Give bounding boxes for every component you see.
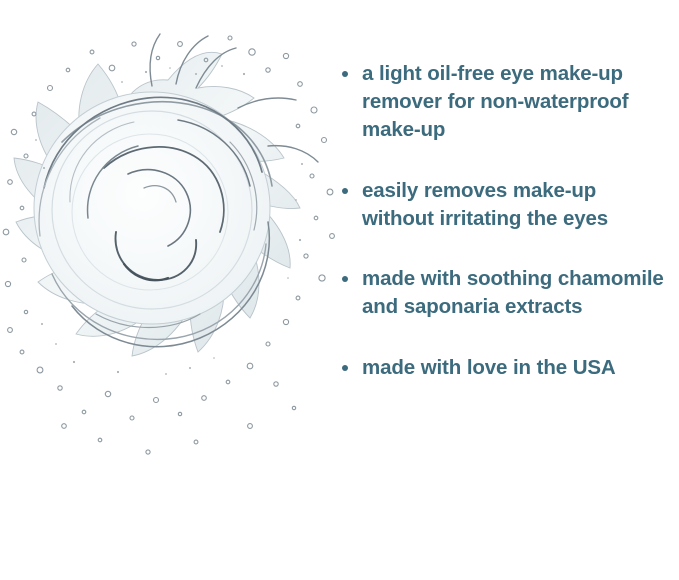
swirl-stroke-14	[178, 120, 250, 186]
droplet	[109, 65, 115, 71]
feature-text: a light oil-free eye make-up remover for…	[362, 60, 672, 144]
water-splash-image	[0, 22, 340, 522]
splash-outer-body	[14, 52, 300, 356]
list-item: a light oil-free eye make-up remover for…	[336, 60, 672, 144]
feature-bullet-list: a light oil-free eye make-up remover for…	[336, 60, 672, 382]
mist-speck	[295, 199, 297, 201]
crown-spike-2	[176, 36, 208, 84]
swirl-stroke-13	[230, 142, 257, 230]
splash-inner-bowl	[34, 92, 270, 324]
splash-swirl-group	[39, 97, 272, 346]
droplet	[82, 410, 86, 414]
product-feature-panel: a light oil-free eye make-up remover for…	[0, 0, 679, 580]
droplet	[283, 53, 288, 58]
droplet	[8, 180, 13, 185]
droplet	[283, 319, 288, 324]
droplet	[274, 382, 278, 386]
droplet	[98, 438, 102, 442]
mist-speck	[301, 163, 303, 165]
crown-spike-5	[268, 146, 318, 162]
mist-speck	[35, 139, 37, 141]
droplet	[24, 154, 28, 158]
droplet	[330, 234, 335, 239]
swirl-stroke-3	[39, 118, 100, 236]
feature-text: made with soothing chamomile and saponar…	[362, 265, 672, 321]
splash-crown-group	[150, 34, 318, 162]
droplet	[202, 396, 207, 401]
mist-speck	[165, 373, 167, 375]
droplet	[249, 49, 255, 55]
mist-speck	[55, 343, 57, 345]
droplet	[22, 258, 26, 262]
droplet	[58, 386, 62, 390]
droplet	[296, 296, 300, 300]
droplet	[310, 174, 314, 178]
droplet	[32, 112, 36, 116]
list-item: easily removes make-up without irritatin…	[336, 177, 672, 233]
swirl-stroke-10	[124, 264, 168, 280]
swirl-stroke-5	[52, 244, 266, 339]
swirl-stroke-6	[104, 147, 224, 232]
swirl-stroke-4	[72, 222, 269, 347]
swirl-stroke-15	[96, 314, 200, 328]
droplet	[204, 58, 208, 62]
list-item: made with love in the USA	[336, 354, 672, 382]
swirl-stroke-2	[44, 97, 262, 188]
droplet	[228, 36, 232, 40]
droplet	[8, 328, 13, 333]
bullet-point-icon	[342, 188, 348, 194]
swirl-stroke-8	[128, 170, 190, 246]
mist-speck	[299, 239, 301, 241]
droplet	[327, 189, 333, 195]
droplet	[311, 107, 317, 113]
droplet	[226, 380, 230, 384]
droplet	[266, 342, 270, 346]
droplet	[248, 424, 253, 429]
feature-text: made with love in the USA	[362, 354, 672, 382]
crown-spike-4	[238, 98, 296, 108]
droplet	[105, 391, 110, 396]
mist-speck	[221, 65, 223, 67]
swirl-stroke-1	[62, 102, 272, 186]
swirl-stroke-11	[144, 186, 176, 202]
droplet	[322, 138, 327, 143]
swirl-stroke-7	[88, 146, 138, 218]
droplet	[296, 124, 300, 128]
droplet	[156, 56, 159, 59]
droplet	[24, 310, 27, 313]
droplet	[146, 450, 150, 454]
droplet	[20, 350, 24, 354]
crown-spike-1	[196, 48, 236, 88]
droplet	[266, 68, 270, 72]
crown-spike-3	[150, 34, 160, 86]
mist-speck	[145, 71, 147, 73]
list-item: made with soothing chamomile and saponar…	[336, 265, 672, 321]
droplet	[314, 216, 318, 220]
mist-speck	[287, 277, 289, 279]
mist-speck	[43, 167, 45, 169]
mist-speck	[73, 361, 75, 363]
droplet	[178, 412, 181, 415]
droplet	[3, 229, 9, 235]
feature-text: easily removes make-up without irritatin…	[362, 177, 672, 233]
droplet	[292, 406, 295, 409]
droplet	[5, 281, 10, 286]
bullet-point-icon	[342, 276, 348, 282]
droplet	[194, 440, 198, 444]
swirl-stroke-12	[70, 122, 134, 202]
droplet	[178, 42, 183, 47]
droplet	[130, 416, 134, 420]
droplet	[48, 86, 53, 91]
bullet-point-icon	[342, 71, 348, 77]
droplet	[298, 82, 303, 87]
mist-speck	[117, 371, 119, 373]
droplet	[11, 129, 16, 134]
droplet	[20, 206, 24, 210]
mist-speck	[213, 357, 215, 359]
mist-speck	[41, 323, 43, 325]
droplet	[62, 424, 67, 429]
droplet	[154, 398, 159, 403]
mist-speck	[121, 81, 123, 83]
bullet-point-icon	[342, 365, 348, 371]
droplet	[247, 363, 253, 369]
splash-inner-ring-3	[72, 134, 228, 290]
splash-body-group	[14, 52, 300, 356]
splash-inner-ring-2	[52, 111, 252, 309]
swirl-stroke-9	[115, 232, 196, 280]
splash-droplets-group	[3, 36, 334, 454]
mist-speck	[189, 367, 191, 369]
mist-speck	[169, 67, 171, 69]
droplet	[37, 367, 43, 373]
mist-speck	[243, 73, 245, 75]
splash-mist-group	[35, 65, 303, 375]
droplet	[90, 50, 94, 54]
droplet	[132, 42, 136, 46]
droplet	[66, 68, 70, 72]
droplet	[304, 254, 308, 258]
mist-speck	[195, 73, 197, 75]
droplet	[319, 275, 325, 281]
